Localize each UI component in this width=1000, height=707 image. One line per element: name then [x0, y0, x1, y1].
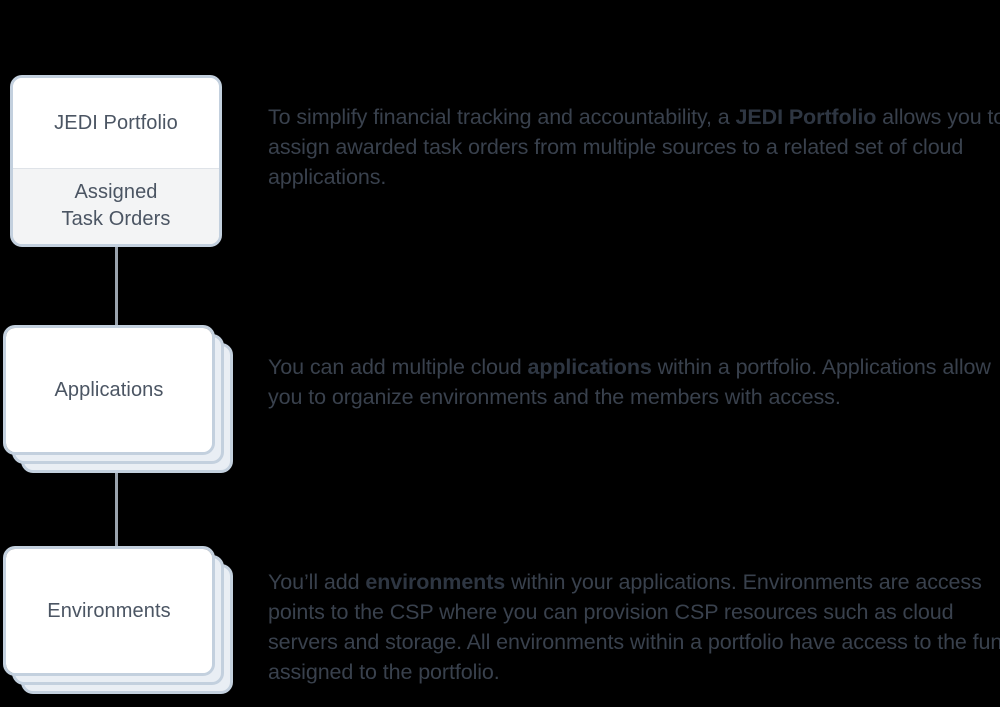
portfolio-description: To simplify financial tracking and accou…	[268, 102, 1000, 192]
applications-description-emphasis: applications	[527, 355, 651, 379]
jedi-portfolio-card[interactable]: JEDI Portfolio Assigned Task Orders	[10, 75, 222, 247]
connector-portfolio-to-applications	[115, 244, 118, 330]
portfolio-description-part1: To simplify financial tracking and accou…	[268, 105, 736, 129]
portfolio-description-emphasis: JEDI Portfolio	[736, 105, 877, 129]
environments-card-face[interactable]: Environments	[3, 546, 215, 676]
environments-description-emphasis: environments	[365, 570, 505, 594]
applications-description-part1: You can add multiple cloud	[268, 355, 527, 379]
applications-card-label: Applications	[6, 328, 212, 452]
applications-description: You can add multiple cloud applications …	[268, 352, 1000, 412]
environments-card-stack[interactable]: Environments	[3, 546, 215, 676]
connector-applications-to-environments	[115, 466, 118, 552]
environments-description-part1: You’ll add	[268, 570, 365, 594]
jedi-portfolio-card-face[interactable]: JEDI Portfolio Assigned Task Orders	[10, 75, 222, 247]
applications-card-face[interactable]: Applications	[3, 325, 215, 455]
portfolio-structure-diagram: JEDI Portfolio Assigned Task Orders Appl…	[0, 0, 1000, 707]
environments-description: You’ll add environments within your appl…	[268, 567, 1000, 687]
applications-card-stack[interactable]: Applications	[3, 325, 215, 455]
jedi-portfolio-card-label: JEDI Portfolio	[13, 78, 219, 168]
environments-card-label: Environments	[6, 549, 212, 673]
jedi-portfolio-card-sublabel: Assigned Task Orders	[13, 168, 219, 244]
